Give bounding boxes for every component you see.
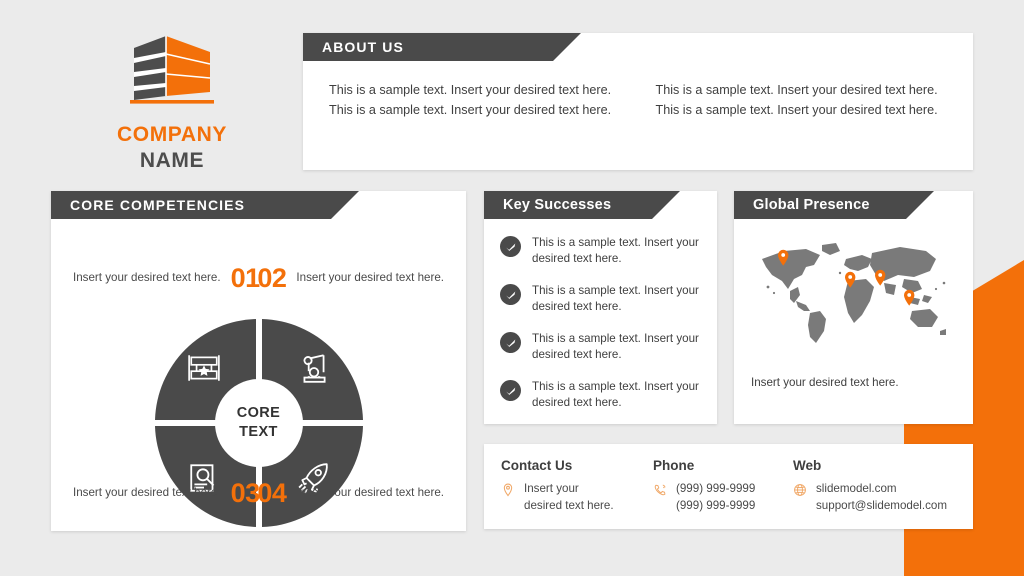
contact-us-title: Contact Us	[501, 458, 653, 473]
about-us-paragraph-1: This is a sample text. Insert your desir…	[329, 81, 621, 120]
about-us-paragraph-2: This is a sample text. Insert your desir…	[656, 81, 948, 120]
contact-column-phone: Phone (999) 999-9999 (999) 999-9999	[653, 458, 793, 529]
about-us-header: ABOUT US	[303, 33, 553, 61]
core-item-02-text: Insert your desired text here.	[296, 270, 444, 286]
core-competencies-header: CORE COMPETENCIES	[51, 191, 331, 219]
key-successes-card: Key Successes This is a sample text. Ins…	[484, 191, 717, 424]
check-circle-icon	[500, 380, 521, 401]
check-circle-icon	[500, 236, 521, 257]
web-row: slidemodel.com support@slidemodel.com	[793, 481, 973, 515]
list-item: This is a sample text. Insert your desir…	[500, 379, 703, 412]
phone-lines: (999) 999-9999 (999) 999-9999	[676, 481, 755, 515]
global-presence-caption: Insert your desired text here.	[734, 357, 973, 391]
machine-press-icon	[297, 351, 331, 385]
list-item-text: This is a sample text. Insert your desir…	[532, 235, 703, 268]
list-item-text: This is a sample text. Insert your desir…	[532, 379, 703, 412]
core-competencies-body: CORE TEXT Insert your desired text here.…	[51, 219, 466, 531]
list-item-text: This is a sample text. Insert your desir…	[532, 331, 703, 364]
list-item: This is a sample text. Insert your desir…	[500, 331, 703, 364]
core-competencies-title: CORE COMPETENCIES	[70, 197, 245, 213]
phone-title: Phone	[653, 458, 793, 473]
logo-line-company: COMPANY	[84, 122, 260, 148]
core-competencies-card: CORE COMPETENCIES	[51, 191, 466, 531]
slide-canvas: COMPANY NAME ABOUT US This is a sample t…	[0, 0, 1024, 576]
core-center-line-1: CORE	[237, 404, 281, 423]
about-us-card: ABOUT US This is a sample text. Insert y…	[303, 33, 973, 170]
core-center-line-2: TEXT	[239, 423, 278, 442]
core-item-04-number: 04	[257, 478, 286, 509]
contact-card: Contact Us Insert your desired text here…	[484, 444, 973, 529]
phone-line-2: (999) 999-9999	[676, 498, 755, 515]
globe-icon	[793, 483, 807, 497]
contact-us-line-2: desired text here.	[524, 498, 614, 515]
check-circle-icon	[500, 284, 521, 305]
key-successes-header: Key Successes	[484, 191, 652, 219]
about-us-body: This is a sample text. Insert your desir…	[303, 61, 973, 120]
building-icon	[124, 30, 220, 112]
contact-column-web: Web slidemodel.com support@slidemodel.co…	[793, 458, 973, 529]
world-map	[734, 237, 973, 357]
web-line-2: support@slidemodel.com	[816, 498, 947, 515]
company-logo: COMPANY NAME	[84, 30, 260, 175]
global-presence-header: Global Presence	[734, 191, 906, 219]
core-item-01: Insert your desired text here. 01	[73, 263, 260, 294]
map-pin-icon	[501, 483, 515, 497]
core-item-03-number: 03	[231, 478, 260, 509]
core-item-02-number: 02	[257, 263, 286, 294]
contact-us-lines: Insert your desired text here.	[524, 481, 614, 515]
web-line-1: slidemodel.com	[816, 481, 947, 498]
key-successes-title: Key Successes	[503, 197, 611, 213]
core-item-04: Insert your desired text here. 04	[257, 478, 444, 509]
list-item: This is a sample text. Insert your desir…	[500, 283, 703, 316]
contact-us-row: Insert your desired text here.	[501, 481, 653, 515]
list-item-text: This is a sample text. Insert your desir…	[532, 283, 703, 316]
about-us-title: ABOUT US	[322, 39, 404, 55]
phone-icon	[653, 483, 667, 497]
contact-us-line-1: Insert your	[524, 481, 614, 498]
core-item-01-text: Insert your desired text here.	[73, 270, 221, 286]
film-strip-icon	[187, 351, 221, 385]
core-item-01-number: 01	[231, 263, 260, 294]
core-item-04-text: Insert your desired text here.	[296, 485, 444, 501]
global-presence-title: Global Presence	[753, 197, 870, 213]
web-title: Web	[793, 458, 973, 473]
core-item-03-text: Insert your desired text here.	[73, 485, 221, 501]
check-circle-icon	[500, 332, 521, 353]
phone-row: (999) 999-9999 (999) 999-9999	[653, 481, 793, 515]
global-presence-card: Global Presence	[734, 191, 973, 424]
core-item-02: Insert your desired text here. 02	[257, 263, 444, 294]
logo-line-name: NAME	[84, 148, 260, 174]
phone-line-1: (999) 999-9999	[676, 481, 755, 498]
web-lines: slidemodel.com support@slidemodel.com	[816, 481, 947, 515]
key-successes-list: This is a sample text. Insert your desir…	[484, 219, 717, 412]
list-item: This is a sample text. Insert your desir…	[500, 235, 703, 268]
core-item-03: Insert your desired text here. 03	[73, 478, 260, 509]
donut-center-label: CORE TEXT	[215, 379, 303, 467]
contact-column-contact-us: Contact Us Insert your desired text here…	[501, 458, 653, 529]
